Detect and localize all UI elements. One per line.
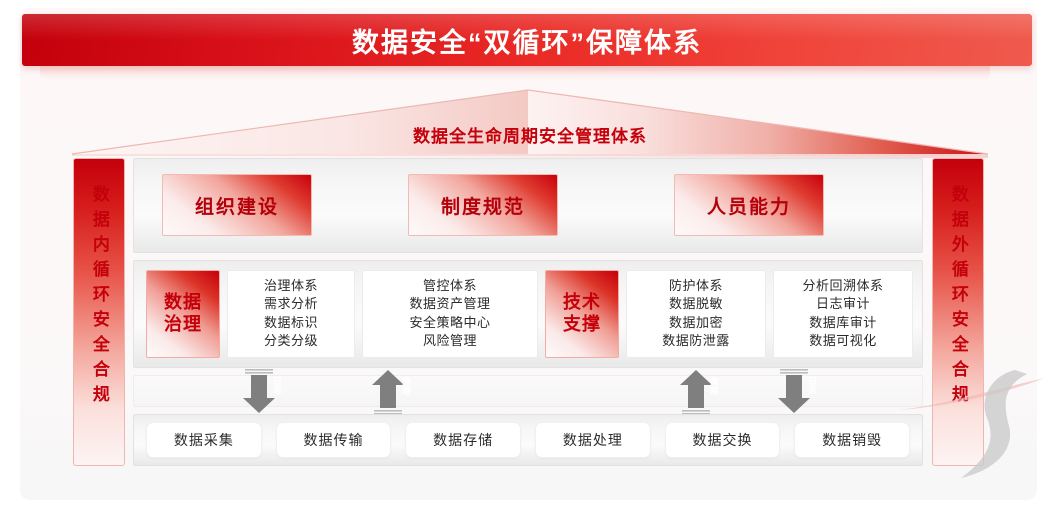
capability-card-audit-system[interactable]: 分析回溯体系 日志审计 数据库审计 数据可视化 — [773, 270, 913, 358]
card-item: 分类分级 — [264, 332, 318, 350]
flow-arrow-band: 日志 策略 策略 — [133, 375, 923, 407]
card-item: 管控体系 — [423, 277, 477, 295]
card-item: 防护体系 — [669, 277, 723, 295]
card-item: 数据标识 — [264, 314, 318, 332]
lifecycle-stage-label: 数据处理 — [563, 430, 623, 450]
governance-box-organization-label: 组织建设 — [195, 192, 279, 219]
lifecycle-stage-store[interactable]: 数据存储 — [405, 422, 521, 458]
capability-card-control-system[interactable]: 管控体系 数据资产管理 安全策略中心 风险管理 — [362, 270, 538, 358]
card-item: 治理体系 — [264, 277, 318, 295]
flow-arrow-policy-left: 策略 — [366, 368, 410, 416]
governance-box-policy[interactable]: 制度规范 — [408, 174, 558, 236]
title-banner-reflection — [40, 66, 990, 80]
capability-pillar-tech-support-line1: 技术 — [563, 292, 601, 314]
lifecycle-stage-transmit[interactable]: 数据传输 — [276, 422, 392, 458]
card-item: 安全策略中心 — [409, 314, 490, 332]
capability-pillar-data-governance-line2: 治理 — [164, 314, 202, 336]
flow-arrow-policy-right: 策略 — [674, 368, 718, 416]
governance-band: 组织建设 制度规范 人员能力 — [133, 158, 923, 253]
lifecycle-stage-collect[interactable]: 数据采集 — [146, 422, 262, 458]
card-item: 数据资产管理 — [409, 295, 490, 313]
pillar-internal-cycle-label: 数据内循环安全合规 — [90, 185, 108, 410]
roof-label: 数据全生命周期安全管理体系 — [70, 122, 990, 147]
pillar-internal-cycle: 数据内循环安全合规 — [73, 158, 125, 466]
card-item: 分析回溯体系 — [802, 277, 883, 295]
card-item: 数据防泄露 — [662, 332, 730, 350]
lifecycle-stage-label: 数据交换 — [693, 430, 753, 450]
lifecycle-stage-destroy[interactable]: 数据销毁 — [794, 422, 910, 458]
capability-pillar-data-governance-line1: 数据 — [164, 292, 202, 314]
pillar-external-cycle-label: 数据外循环安全合规 — [949, 185, 967, 410]
flow-arrow-log-right-label: 日志 — [772, 376, 816, 394]
capability-band: 数据 治理 治理体系 需求分析 数据标识 分类分级 管控体系 数据资产管理 安全… — [133, 260, 923, 368]
pillar-external-cycle: 数据外循环安全合规 — [932, 158, 984, 466]
flow-arrow-log-left-label: 日志 — [237, 376, 281, 394]
capability-pillar-data-governance[interactable]: 数据 治理 — [146, 270, 220, 358]
lifecycle-stage-label: 数据销毁 — [822, 430, 882, 450]
card-item: 数据可视化 — [809, 332, 877, 350]
governance-box-personnel[interactable]: 人员能力 — [674, 174, 824, 236]
governance-box-policy-label: 制度规范 — [441, 192, 525, 219]
lifecycle-stage-label: 数据传输 — [304, 430, 364, 450]
lifecycle-stage-label: 数据存储 — [433, 430, 493, 450]
card-item: 日志审计 — [816, 295, 870, 313]
card-item: 风险管理 — [423, 332, 477, 350]
card-item: 需求分析 — [264, 295, 318, 313]
card-item: 数据加密 — [669, 314, 723, 332]
title-banner: 数据安全“双循环”保障体系 — [22, 14, 1032, 66]
governance-box-organization[interactable]: 组织建设 — [162, 174, 312, 236]
card-item: 数据库审计 — [809, 314, 877, 332]
lifecycle-stage-exchange[interactable]: 数据交换 — [665, 422, 781, 458]
card-item: 数据脱敏 — [669, 295, 723, 313]
governance-box-personnel-label: 人员能力 — [707, 192, 791, 219]
flow-arrow-log-left: 日志 — [237, 368, 281, 416]
capability-pillar-tech-support[interactable]: 技术 支撑 — [545, 270, 619, 358]
lifecycle-stage-label: 数据采集 — [174, 430, 234, 450]
lifecycle-band: 数据采集 数据传输 数据存储 数据处理 数据交换 数据销毁 — [133, 414, 923, 466]
roof-gable: 数据全生命周期安全管理体系 — [70, 88, 990, 158]
diagram-root: 数据安全“双循环”保障体系 — [0, 0, 1057, 512]
flow-arrow-policy-right-label: 策略 — [674, 377, 718, 395]
flow-arrow-log-right: 日志 — [772, 368, 816, 416]
center-frame: 组织建设 制度规范 人员能力 数据 治理 治理体系 需求分析 — [133, 158, 923, 466]
capability-card-protection-system[interactable]: 防护体系 数据脱敏 数据加密 数据防泄露 — [626, 270, 766, 358]
flow-arrow-policy-left-label: 策略 — [366, 377, 410, 395]
capability-card-governance-system[interactable]: 治理体系 需求分析 数据标识 分类分级 — [227, 270, 355, 358]
page-title: 数据安全“双循环”保障体系 — [352, 21, 702, 60]
capability-pillar-tech-support-line2: 支撑 — [563, 314, 601, 336]
lifecycle-stage-process[interactable]: 数据处理 — [535, 422, 651, 458]
